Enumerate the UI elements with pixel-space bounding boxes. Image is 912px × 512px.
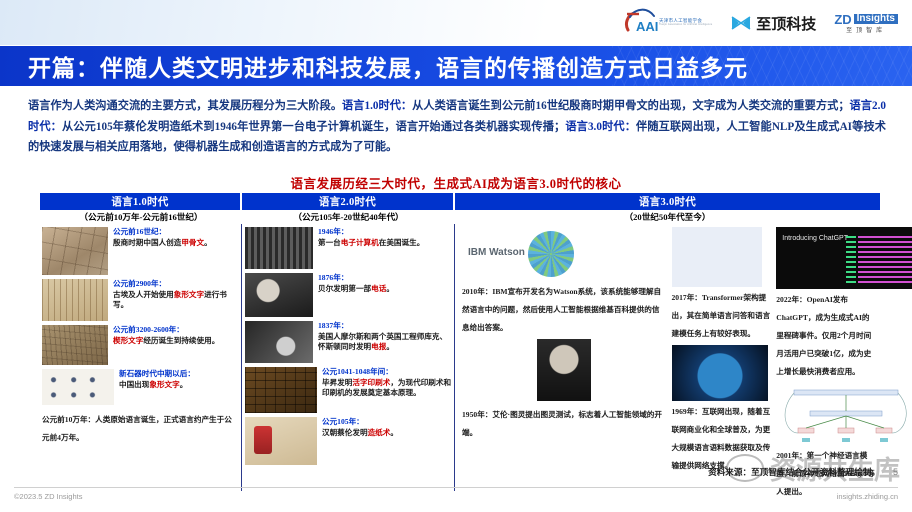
entry-body-b: 。 <box>390 428 398 437</box>
entry-year: 1969年： <box>672 407 702 416</box>
era3-right-group: Introducing ChatGPT 2022年：OpenAI发布ChatGP… <box>773 227 878 491</box>
caai-logo-text: 天津市人工智能学会 Tianjin Association for Artifi… <box>659 19 712 27</box>
entry-body-a: 毕昇发明 <box>322 378 352 387</box>
entry-year: 公元前2900年： <box>113 279 239 290</box>
entry-text: 公元前10万年：人类原始语言诞生，正式语言约产生于公元前4万年。 <box>42 415 232 442</box>
list-item: 公元前16世纪：殷商时期中国人创造甲骨文。 <box>42 227 239 275</box>
column-subheader-era1: （公元前10万年-公元前16世纪） <box>40 210 242 224</box>
transformer-architecture-diagram <box>672 227 762 287</box>
entry-text: 1837年：美国人摩尔斯和两个英国工程师库克、怀斯顿同时发明电报。 <box>318 321 452 363</box>
eniac-computer-photo <box>245 227 313 269</box>
table-header-row: 语言1.0时代 语言2.0时代 语言3.0时代 <box>40 193 880 210</box>
entry-highlight: 造纸术 <box>368 428 391 437</box>
entry-year: 1946年： <box>318 227 424 238</box>
entry-body-b: 在美国诞生。 <box>379 238 425 247</box>
entry-year: 1837年： <box>318 321 452 332</box>
entry-year: 1950年： <box>462 410 492 419</box>
entry-highlight: 电子计算机 <box>341 238 379 247</box>
watson-sphere-icon <box>528 231 574 277</box>
entry-text: 1969年：互联网出现，随着互联网商业化和全球普及，为更大规模语言语料数据获取及… <box>672 407 771 470</box>
intro-label-era3: 语言3.0时代： <box>565 121 636 133</box>
column-era3: IBM Watson 2010年：IBM宣布开发名为Watson系统，该系统能够… <box>455 224 880 491</box>
caai-logo-en: Tianjin Association for Artificial Intel… <box>659 24 712 27</box>
neolithic-symbols-photo <box>42 369 114 405</box>
era3-left-group: IBM Watson 2010年：IBM宣布开发名为Watson系统，该系统能够… <box>459 227 669 491</box>
era3-middle-group: 2017年：Transformer架构提出，其在简单语言问答和语言建模任务上有较… <box>669 227 774 491</box>
entry-text: 新石器时代中期以后：中国出现象形文字。 <box>119 369 195 405</box>
entry-text: 2022年：OpenAI发布ChatGPT，成为生成式AI的里程碑事件。仅用2个… <box>776 295 871 376</box>
entry-body-a: 古埃及人开始使用 <box>113 290 174 299</box>
entry-highlight: 象形文字 <box>174 290 204 299</box>
egyptian-hieroglyph-photo <box>42 279 108 321</box>
oracle-bone-photo <box>42 227 108 275</box>
column-subheader-era3: （20世纪50年代至今） <box>455 210 880 224</box>
entry-body-a: OpenAI发布 <box>807 295 848 304</box>
caai-logo: AAI 天津市人工智能学会 Tianjin Association for Ar… <box>624 7 712 39</box>
zhiding-logo-text: 至顶科技 <box>756 13 816 34</box>
list-item: 1946年：第一台电子计算机在美国诞生。 <box>245 227 452 269</box>
intro-paragraph: 语言作为人类沟通交流的主要方式，其发展历程分为三大阶段。语言1.0时代：从人类语… <box>28 96 886 158</box>
entry-year: 1876年： <box>318 273 394 284</box>
entry-year: 公元前3200-2600年： <box>113 325 219 336</box>
entry-year: 2017年： <box>672 293 702 302</box>
logo-strip: AAI 天津市人工智能学会 Tianjin Association for Ar… <box>0 0 912 45</box>
list-item: 2017年：Transformer架构提出，其在简单语言问答和语言建模任务上有较… <box>672 227 771 341</box>
list-item: 公元前3200-2600年：楔形文字经历诞生到持续使用。 <box>42 325 239 365</box>
zhiding-mark-icon <box>730 14 752 32</box>
entry-body-b: 。 <box>386 284 394 293</box>
list-item: 公元前10万年：人类原始语言诞生，正式语言约产生于公元前4万年。 <box>42 409 239 445</box>
column-header-era2: 语言2.0时代 <box>242 193 455 210</box>
entry-text: 1876年：贝尔发明第一部电话。 <box>318 273 394 317</box>
entry-text: 公元105年：汉朝蔡伦发明造纸术。 <box>322 417 398 465</box>
entry-highlight: 楔形文字 <box>113 336 143 345</box>
zd-insights-logo: ZD Insights 至顶智库 <box>834 13 898 34</box>
entry-body-b: ，成为生成式AI的里程碑事件。仅用2个月时间月活用户已突破1亿，成为史上增长最快… <box>776 313 871 376</box>
entry-body-a: 殷商时期中国人创造 <box>113 238 181 247</box>
list-item: 2001年：第一个神经语言模型，前馈神经网络由Bengio等人提出。 <box>776 383 875 499</box>
entry-text: 公元前2900年：古埃及人开始使用象形文字进行书写。 <box>113 279 239 321</box>
entry-year: 公元105年： <box>322 417 398 428</box>
entry-text: 公元1041-1048年间：毕昇发明活字印刷术，为现代印刷术和印刷机的发展奠定基… <box>322 367 452 413</box>
footer-copyright: ©2023.5 ZD Insights <box>14 492 82 501</box>
entry-body-b: 。 <box>180 380 188 389</box>
entry-text: 2010年：IBM宣布开发名为Watson系统，该系统能够理解自然语言中的问题，… <box>462 287 661 332</box>
ibm-watson-logo: IBM Watson <box>462 227 592 281</box>
cuneiform-tablet-photo <box>42 325 108 365</box>
entry-year: 公元前16世纪： <box>113 227 212 238</box>
internet-globe-photo <box>672 345 768 401</box>
entry-highlight: 电报 <box>371 342 386 351</box>
chatgpt-graphic-bars <box>858 233 912 283</box>
entry-body-a: 经历诞生到持续使用。 <box>143 336 219 345</box>
entry-year: 新石器时代中期以后： <box>119 369 195 380</box>
entry-highlight: 甲骨文 <box>181 238 204 247</box>
caai-mark-icon: AAI <box>624 7 658 39</box>
intro-text-3: 从公元105年蔡伦发明造纸术到1946年世界第一台电子计算机诞生，语言开始通过各… <box>62 121 565 133</box>
footer-url: insights.zhiding.cn <box>837 492 898 501</box>
list-item: 1876年：贝尔发明第一部电话。 <box>245 273 452 317</box>
list-item: 新石器时代中期以后：中国出现象形文字。 <box>42 369 239 405</box>
movable-type-photo <box>245 367 317 413</box>
entry-text: 公元前3200-2600年：楔形文字经历诞生到持续使用。 <box>113 325 219 365</box>
zd-insights-zd: ZD <box>834 13 851 26</box>
entry-highlight: 象形文字 <box>149 380 179 389</box>
entry-text: 公元前16世纪：殷商时期中国人创造甲骨文。 <box>113 227 212 275</box>
entry-text: 1946年：第一台电子计算机在美国诞生。 <box>318 227 424 269</box>
footer-divider <box>14 487 898 488</box>
list-item: 公元1041-1048年间：毕昇发明活字印刷术，为现代印刷术和印刷机的发展奠定基… <box>245 367 452 413</box>
alexander-bell-photo <box>245 273 313 317</box>
list-item: 公元105年：汉朝蔡伦发明造纸术。 <box>245 417 452 465</box>
source-note: 资料来源：至顶智库结合公开资料整理绘制。 <box>708 466 880 478</box>
entry-year: 公元前10万年： <box>42 415 95 424</box>
chatgpt-graphic-bars-green <box>846 233 856 283</box>
entry-highlight: ChatGPT <box>776 313 808 322</box>
svg-text:AAI: AAI <box>636 19 658 34</box>
eras-table: 语言1.0时代 语言2.0时代 语言3.0时代 （公元前10万年-公元前16世纪… <box>40 193 880 491</box>
zhiding-logo: 至顶科技 <box>730 13 816 34</box>
entry-highlight: 图灵测试 <box>540 410 570 419</box>
column-header-era3: 语言3.0时代 <box>455 193 880 210</box>
entry-highlight: Watson系统 <box>553 287 593 296</box>
slide-root: AAI 天津市人工智能学会 Tianjin Association for Ar… <box>0 0 912 512</box>
list-item: IBM Watson 2010年：IBM宣布开发名为Watson系统，该系统能够… <box>462 227 666 335</box>
intro-text-2: 从人类语言诞生到公元前16世纪殷商时期甲骨文的出现，文字成为人类交流的重要方式； <box>412 100 849 112</box>
section-heading: 语言发展历经三大时代，生成式AI成为语言3.0时代的核心 <box>0 173 912 192</box>
alan-turing-photo <box>537 339 591 401</box>
entry-body-a: 贝尔发明第一部 <box>318 284 371 293</box>
entry-body-a: ，随着互联网商业化和全球普及，为更大规模语言语料数据获取及传输提供网络支撑。 <box>672 407 771 470</box>
entry-body-a: 人类 <box>95 415 110 424</box>
entry-body-a: IBM宣布开发名为 <box>492 287 553 296</box>
entry-body-b: 。 <box>386 342 394 351</box>
entry-text: 1950年：艾伦·图灵提出图灵测试，标志着人工智能领域的开端。 <box>462 410 662 437</box>
column-subheader-era2: （公元105年-20世纪40年代） <box>242 210 455 224</box>
column-header-era1: 语言1.0时代 <box>40 193 242 210</box>
entry-body-a: 中国出现 <box>119 380 149 389</box>
page-title: 开篇：伴随人类文明进步和科技发展，语言的传播创造方式日益多元 <box>28 49 748 83</box>
column-era1: 公元前16世纪：殷商时期中国人创造甲骨文。 公元前2900年：古埃及人开始使用象… <box>40 224 242 491</box>
entry-highlight: 电话 <box>371 284 386 293</box>
papermaking-painting <box>245 417 317 465</box>
list-item: 1969年：互联网出现，随着互联网商业化和全球普及，为更大规模语言语料数据获取及… <box>672 345 771 473</box>
chatgpt-introducing-screenshot: Introducing ChatGPT <box>776 227 912 289</box>
entry-highlight: 活字印刷术 <box>352 378 390 387</box>
entry-body-a: 艾伦·图灵提出 <box>492 410 540 419</box>
table-subheader-row: （公元前10万年-公元前16世纪） （公元105年-20世纪40年代） （20世… <box>40 210 880 224</box>
entry-highlight: Transformer架构 <box>702 293 759 302</box>
entry-text: 2017年：Transformer架构提出，其在简单语言问答和语言建模任务上有较… <box>672 293 771 338</box>
title-bar: 开篇：伴随人类文明进步和科技发展，语言的传播创造方式日益多元 <box>0 46 912 86</box>
neural-network-diagram <box>776 383 912 445</box>
entry-year: 2001年： <box>776 451 806 460</box>
intro-label-era1: 语言1.0时代： <box>342 100 412 112</box>
zd-insights-sub: 至顶智库 <box>846 28 886 34</box>
entry-body-a: 汉朝蔡伦发明 <box>322 428 368 437</box>
zd-insights-word: Insights <box>854 14 898 24</box>
ibm-watson-wordmark: IBM Watson <box>468 247 525 258</box>
telegraph-machine-photo <box>245 321 313 363</box>
chatgpt-headline: Introducing ChatGPT <box>782 235 848 242</box>
entry-year: 2010年： <box>462 287 492 296</box>
column-era2: 1946年：第一台电子计算机在美国诞生。 1876年：贝尔发明第一部电话。 18… <box>242 224 455 491</box>
list-item: 1950年：艾伦·图灵提出图灵测试，标志着人工智能领域的开端。 <box>462 339 666 440</box>
page-number: 5 <box>893 467 898 477</box>
entry-year: 公元1041-1048年间： <box>322 367 452 378</box>
entry-body-b: 。 <box>204 238 212 247</box>
intro-text-1: 语言作为人类沟通交流的主要方式，其发展历程分为三大阶段。 <box>28 100 342 112</box>
zd-insights-row: ZD Insights <box>834 13 898 26</box>
entry-highlight: 互联网出现 <box>702 407 740 416</box>
entry-highlight: 原始语言 <box>110 415 140 424</box>
entry-body-a: 第一台 <box>318 238 341 247</box>
list-item: 1837年：美国人摩尔斯和两个英国工程师库克、怀斯顿同时发明电报。 <box>245 321 452 363</box>
table-body-row: 公元前16世纪：殷商时期中国人创造甲骨文。 公元前2900年：古埃及人开始使用象… <box>40 224 880 491</box>
logo-group: AAI 天津市人工智能学会 Tianjin Association for Ar… <box>624 5 898 41</box>
list-item: Introducing ChatGPT 2022年：OpenAI发布ChatGP… <box>776 227 875 379</box>
entry-year: 2022年： <box>776 295 806 304</box>
list-item: 公元前2900年：古埃及人开始使用象形文字进行书写。 <box>42 279 239 321</box>
